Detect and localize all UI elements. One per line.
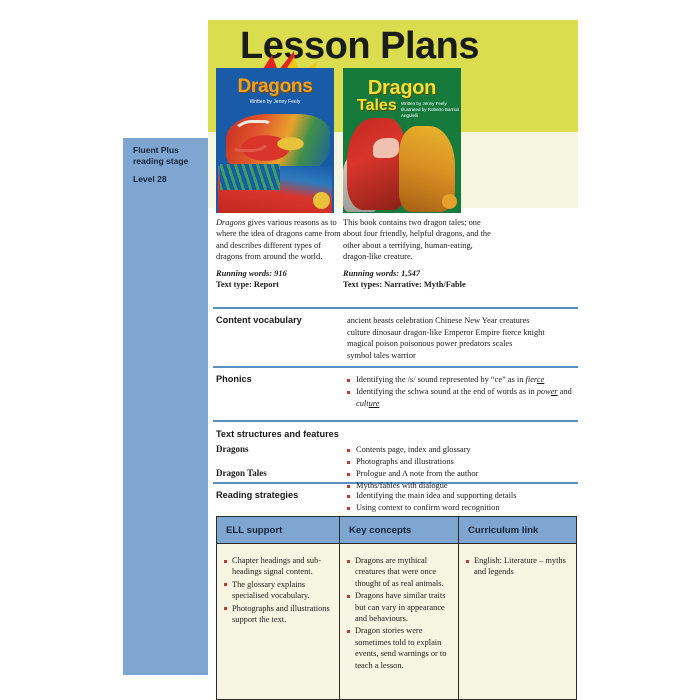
- book-cover-dragons: Dragons Written by Jenny Feely: [216, 68, 334, 213]
- list-item: Prologue and A note from the author: [347, 468, 581, 480]
- list-item: Identifying the main idea and supporting…: [347, 490, 581, 502]
- book-cover-title-2: Tales: [357, 97, 397, 115]
- dragon-art-mouth: [232, 120, 272, 152]
- vocab-line: symbol tales warrior: [347, 350, 581, 362]
- running-words: Running words: 1,547: [343, 268, 491, 279]
- text-type: Text types: Narrative: Myth/Fable: [343, 279, 491, 290]
- phonics-conjunction: and: [558, 387, 572, 396]
- book-cover-dragon-tales: Dragon Tales Written by Jenny Feely Illu…: [343, 68, 461, 213]
- list-item: Chapter headings and sub-headings signal…: [224, 555, 332, 578]
- phonics-item-text: Identifying the /s/ sound represented by…: [356, 375, 526, 384]
- list-item: Photographs and illustrations: [347, 456, 581, 468]
- table-cell-ell-support: Chapter headings and sub-headings signal…: [217, 544, 339, 699]
- key-concepts-list: Dragons are mythical creatures that were…: [347, 555, 451, 671]
- row-body-phonics: Identifying the /s/ sound represented by…: [347, 374, 581, 410]
- book-blurb-dragon-tales: This book contains two dragon tales; one…: [343, 217, 491, 290]
- dragon-art-red: [347, 118, 405, 210]
- list-item: Dragons are mythical creatures that were…: [347, 555, 451, 589]
- lesson-plan-page: Lesson Plans Flying Start to Literacy® F…: [0, 0, 700, 700]
- row-body-dragons: Contents page, index and glossary Photog…: [347, 444, 581, 468]
- vocab-line: culture dinosaur dragon-like Emperor Emp…: [347, 327, 581, 339]
- list-item: Using context to confirm word recognitio…: [347, 502, 581, 514]
- row-body-content-vocabulary: ancient beasts celebration Chinese New Y…: [347, 315, 581, 361]
- dragon-art-scales: [220, 164, 280, 190]
- blurb-title-italic: Dragons: [216, 218, 245, 227]
- table-header-key-concepts: Key concepts: [340, 517, 458, 544]
- running-words: Running words: 916: [216, 268, 346, 279]
- cover-logo-badge-icon: [442, 194, 457, 209]
- table-cell-key-concepts: Dragons are mythical creatures that were…: [340, 544, 458, 699]
- phonics-word: cult: [356, 399, 369, 408]
- book-covers: Dragons Written by Jenny Feely Dragon Ta…: [216, 68, 576, 213]
- text-type: Text type: Report: [216, 279, 346, 290]
- list-item: Photographs and illustrations support th…: [224, 603, 332, 626]
- sidebar-reading-stage: Fluent Plus reading stage: [133, 145, 205, 167]
- support-table: ELL support Chapter headings and sub-hea…: [216, 516, 577, 700]
- curriculum-link-list: English: Literature – myths and legends: [466, 555, 569, 578]
- row-label-phonics: Phonics: [216, 374, 344, 384]
- reading-stage-line-2: reading stage: [133, 156, 188, 166]
- phonics-item: Identifying the /s/ sound represented by…: [347, 374, 581, 386]
- phonics-word-underline: er: [551, 387, 558, 396]
- row-body-reading-strategies: Identifying the main idea and supporting…: [347, 490, 581, 514]
- book-cover-author: Written by Jenny Feely Illustrated by Ro…: [401, 101, 461, 119]
- text-structures-list-dragons: Contents page, index and glossary Photog…: [347, 444, 581, 468]
- phonics-list: Identifying the /s/ sound represented by…: [347, 374, 581, 409]
- phonics-word-underline: ce: [537, 375, 544, 384]
- book-cover-title: Dragons: [216, 76, 334, 98]
- table-header-curriculum-link: Curriculum link: [459, 517, 576, 544]
- list-item: The glossary explains specialised vocabu…: [224, 579, 332, 602]
- phonics-word-underline: ure: [369, 399, 380, 408]
- table-header-ell-support: ELL support: [217, 517, 339, 544]
- section-divider: [213, 307, 578, 309]
- sidebar-level: Level 28: [133, 174, 167, 184]
- row-label-dragon-tales: Dragon Tales: [216, 468, 344, 478]
- section-heading-text-structures: Text structures and features: [216, 429, 339, 439]
- reading-strategies-list: Identifying the main idea and supporting…: [347, 490, 581, 514]
- row-body-dragon-tales: Prologue and A note from the author Myth…: [347, 468, 581, 492]
- cover-logo-badge-icon: [313, 192, 330, 209]
- row-label-content-vocabulary: Content vocabulary: [216, 315, 344, 325]
- text-structures-list-dragon-tales: Prologue and A note from the author Myth…: [347, 468, 581, 492]
- book-blurb-dragons: Dragons gives various reasons as to wher…: [216, 217, 346, 290]
- dragon-art-face: [373, 138, 399, 158]
- list-item: English: Literature – myths and legends: [466, 555, 569, 578]
- table-column-ell-support: ELL support Chapter headings and sub-hea…: [217, 517, 340, 699]
- vocab-line: magical poison poisonous power predators…: [347, 338, 581, 350]
- logo-container: Flying Start to Literacy®: [123, 20, 208, 134]
- phonics-item-text: Identifying the schwa sound at the end o…: [356, 387, 537, 396]
- phonics-word: pow: [537, 387, 551, 396]
- vocab-line: ancient beasts celebration Chinese New Y…: [347, 315, 581, 327]
- list-item: Dragon stories were sometimes told to ex…: [347, 625, 451, 671]
- section-divider: [213, 420, 578, 422]
- list-item: Contents page, index and glossary: [347, 444, 581, 456]
- section-divider: [213, 366, 578, 368]
- reading-stage-line-1: Fluent Plus: [133, 145, 179, 155]
- table-column-key-concepts: Key concepts Dragons are mythical creatu…: [340, 517, 459, 699]
- row-label-dragons: Dragons: [216, 444, 344, 454]
- sidebar: Fluent Plus reading stage Level 28: [123, 138, 208, 675]
- phonics-word: fier: [526, 375, 537, 384]
- list-item: Dragons have similar traits but can vary…: [347, 590, 451, 624]
- blurb-text: This book contains two dragon tales; one…: [343, 218, 491, 261]
- ell-support-list: Chapter headings and sub-headings signal…: [224, 555, 332, 625]
- table-column-curriculum-link: Curriculum link English: Literature – my…: [459, 517, 576, 699]
- row-label-reading-strategies: Reading strategies: [216, 490, 344, 500]
- phonics-item: Identifying the schwa sound at the end o…: [347, 386, 581, 409]
- table-cell-curriculum-link: English: Literature – myths and legends: [459, 544, 576, 699]
- book-cover-author: Written by Jenny Feely: [216, 99, 334, 105]
